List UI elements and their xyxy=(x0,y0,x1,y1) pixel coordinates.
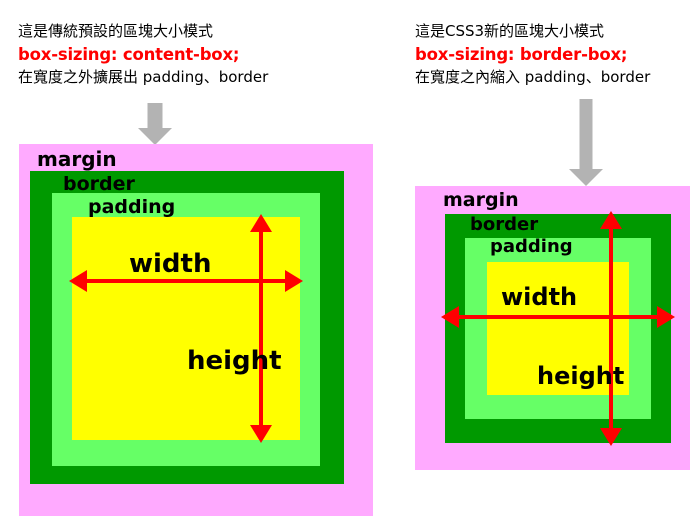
width-label: width xyxy=(501,283,577,311)
caption-code-line: box-sizing: content-box; xyxy=(18,43,268,66)
gray-down-arrow-icon xyxy=(569,99,603,187)
caption-line-3: 在寬度之外擴展出 padding、border xyxy=(18,66,268,89)
margin-label: margin xyxy=(37,147,117,171)
arrow-head-down xyxy=(600,428,622,446)
arrow-shaft xyxy=(609,222,613,435)
margin-label: margin xyxy=(443,189,519,211)
arrow-shaft xyxy=(452,315,664,319)
height-measure-arrow xyxy=(248,214,274,443)
arrow-shaft xyxy=(148,103,163,129)
caption-code-line: box-sizing: border-box; xyxy=(415,43,650,66)
arrow-head-down xyxy=(250,425,272,443)
arrow-shaft xyxy=(580,99,593,171)
gray-down-arrow-icon xyxy=(138,103,172,145)
content-box-model-diagram: margin border padding width height xyxy=(19,144,373,516)
border-box-caption: 這是CSS3新的區塊大小模式 box-sizing: border-box; 在… xyxy=(415,20,650,89)
arrow-head xyxy=(569,169,603,186)
border-label: border xyxy=(63,173,135,195)
height-label: height xyxy=(187,346,282,376)
border-label: border xyxy=(470,214,538,235)
caption-line-3: 在寬度之內縮入 padding、border xyxy=(415,66,650,89)
arrow-head-right xyxy=(657,306,675,328)
arrow-head-right xyxy=(285,270,303,292)
arrow-shaft xyxy=(259,225,263,432)
width-label: width xyxy=(129,249,211,279)
content-box-caption: 這是傳統預設的區塊大小模式 box-sizing: content-box; 在… xyxy=(18,20,268,89)
caption-line-1: 這是CSS3新的區塊大小模式 xyxy=(415,20,650,43)
arrow-head xyxy=(138,128,172,145)
padding-label: padding xyxy=(88,196,175,218)
height-label: height xyxy=(537,362,624,390)
border-box-model-diagram: margin border padding width height xyxy=(415,186,690,470)
height-measure-arrow xyxy=(598,211,624,446)
caption-line-1: 這是傳統預設的區塊大小模式 xyxy=(18,20,268,43)
padding-label: padding xyxy=(490,236,573,257)
